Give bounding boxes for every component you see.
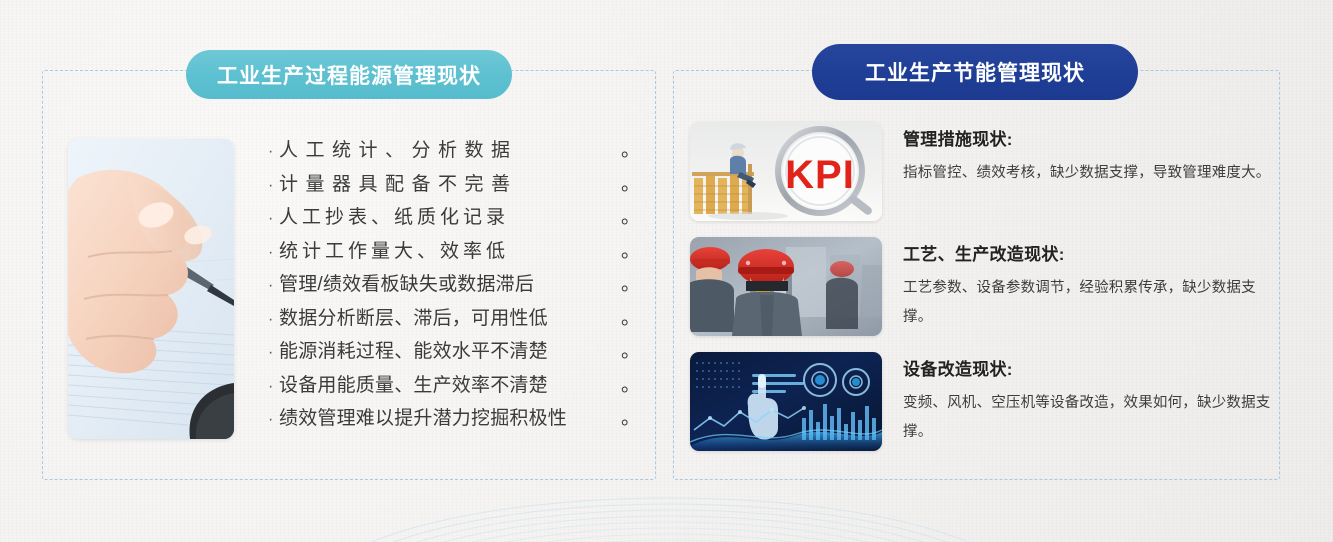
bullet-terminator: 。 <box>621 168 640 202</box>
bullet-text-wrap: 人工抄表、纸质化记录。 <box>279 201 640 235</box>
bullet-marker-icon: · <box>268 403 279 437</box>
bullet-label: 绩效管理难以提升潜力挖掘积极性 <box>279 402 567 436</box>
bottom-arc-decoration <box>300 480 1040 542</box>
svg-text:KPI: KPI <box>785 153 855 197</box>
bullet-marker-icon: · <box>268 269 279 303</box>
bullet-marker-icon: · <box>268 169 279 203</box>
bullet-item: ·能源消耗过程、能效水平不清楚。 <box>268 335 640 369</box>
feature-row-management: KPI <box>690 122 1275 221</box>
digital-dashboard-hand-touch-image <box>690 352 882 451</box>
bullet-label: 管理/绩效看板缺失或数据滞后 <box>279 268 534 302</box>
bullet-marker-icon: · <box>268 202 279 236</box>
feature-description: 变频、风机、空压机等设备改造，效果如何，缺少数据支撑。 <box>903 389 1275 447</box>
bullet-text-wrap: 计量器具配备不完善。 <box>279 168 640 202</box>
bullet-item: ·绩效管理难以提升潜力挖掘积极性。 <box>268 402 640 436</box>
bullet-label: 能源消耗过程、能效水平不清楚 <box>279 335 548 369</box>
bullet-label: 设备用能质量、生产效率不清楚 <box>279 369 548 403</box>
feature-title: 工艺、生产改造现状: <box>903 240 1275 265</box>
left-panel-bullet-list: ·人工统计、分析数据。·计量器具配备不完善。·人工抄表、纸质化记录。·统计工作量… <box>268 134 640 436</box>
bullet-terminator: 。 <box>621 134 640 168</box>
bullet-terminator: 。 <box>621 369 640 403</box>
left-panel-title-text: 工业生产过程能源管理现状 <box>217 60 481 90</box>
right-panel-title-badge: 工业生产节能管理现状 <box>812 44 1138 100</box>
bullet-item: ·管理/绩效看板缺失或数据滞后。 <box>268 268 640 302</box>
bullet-text-wrap: 能源消耗过程、能效水平不清楚。 <box>279 335 640 369</box>
bullet-text-wrap: 管理/绩效看板缺失或数据滞后。 <box>279 268 640 302</box>
bullet-item: ·设备用能质量、生产效率不清楚。 <box>268 369 640 403</box>
left-panel-title-badge: 工业生产过程能源管理现状 <box>186 50 512 99</box>
bullet-text-wrap: 设备用能质量、生产效率不清楚。 <box>279 369 640 403</box>
bullet-label: 人工抄表、纸质化记录 <box>279 201 509 235</box>
bullet-marker-icon: · <box>268 370 279 404</box>
feature-title: 设备改造现状: <box>903 355 1275 380</box>
bullet-label: 人工统计、分析数据 <box>279 134 518 168</box>
bullet-terminator: 。 <box>621 402 640 436</box>
bullet-item: ·计量器具配备不完善。 <box>268 168 640 202</box>
kpi-magnifier-coins-image: KPI <box>690 122 882 221</box>
bullet-label: 统计工作量大、效率低 <box>279 235 509 269</box>
bullet-terminator: 。 <box>621 335 640 369</box>
bullet-text-wrap: 统计工作量大、效率低。 <box>279 235 640 269</box>
bullet-text-wrap: 绩效管理难以提升潜力挖掘积极性。 <box>279 402 640 436</box>
feature-description: 指标管控、绩效考核，缺少数据支撑，导致管理难度大。 <box>903 159 1275 188</box>
bullet-label: 数据分析断层、滞后，可用性低 <box>279 302 548 336</box>
bullet-text-wrap: 人工统计、分析数据。 <box>279 134 640 168</box>
bullet-marker-icon: · <box>268 336 279 370</box>
bullet-text-wrap: 数据分析断层、滞后，可用性低。 <box>279 302 640 336</box>
feature-title: 管理措施现状: <box>903 125 1275 150</box>
bullet-marker-icon: · <box>268 135 279 169</box>
bullet-item: ·人工统计、分析数据。 <box>268 134 640 168</box>
feature-description: 工艺参数、设备参数调节，经验积累传承，缺少数据支撑。 <box>903 274 1275 332</box>
bullet-item: ·人工抄表、纸质化记录。 <box>268 201 640 235</box>
bullet-terminator: 。 <box>621 302 640 336</box>
bullet-item: ·统计工作量大、效率低。 <box>268 235 640 269</box>
bullet-label: 计量器具配备不完善 <box>279 168 518 202</box>
bullet-marker-icon: · <box>268 303 279 337</box>
bullet-terminator: 。 <box>621 268 640 302</box>
bullet-item: ·数据分析断层、滞后，可用性低。 <box>268 302 640 336</box>
feature-row-equipment: 设备改造现状: 变频、风机、空压机等设备改造，效果如何，缺少数据支撑。 <box>690 352 1275 451</box>
feature-row-process: 工艺、生产改造现状: 工艺参数、设备参数调节，经验积累传承，缺少数据支撑。 <box>690 237 1275 336</box>
right-panel-title-text: 工业生产节能管理现状 <box>865 57 1085 87</box>
bullet-terminator: 。 <box>621 201 640 235</box>
factory-workers-red-helmets-image <box>690 237 882 336</box>
bullet-terminator: 。 <box>621 235 640 269</box>
hand-writing-on-paper-photo <box>68 139 234 439</box>
bullet-marker-icon: · <box>268 236 279 270</box>
